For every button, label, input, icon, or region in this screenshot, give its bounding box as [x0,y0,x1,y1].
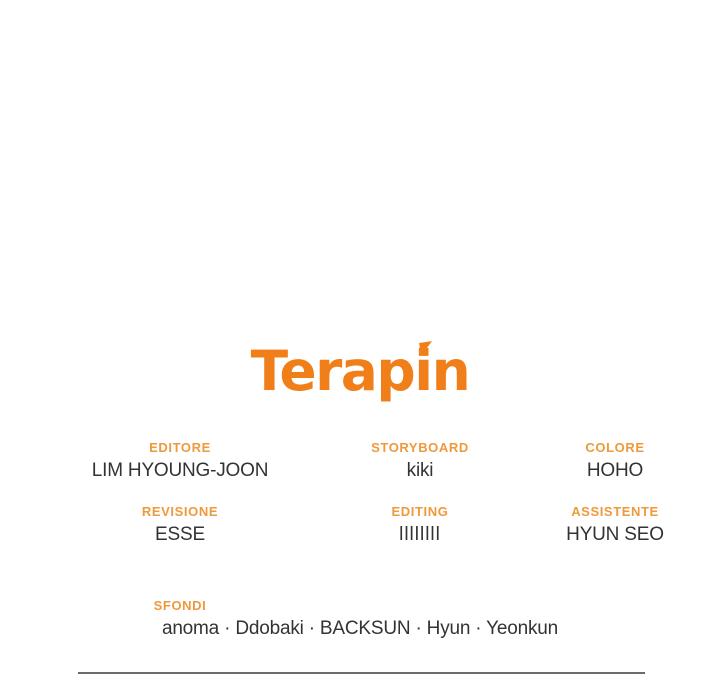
logo-text-after-accent: n [432,339,470,403]
credit-value: HOHO [525,460,705,482]
credit-column-assistente: ASSISTENTE HYUN SEO [525,504,705,546]
logo-text: Terapin [251,344,470,399]
credit-label: SFONDI [30,598,330,613]
credit-value: HYUN SEO [525,524,705,546]
credit-label: EDITING [345,504,495,519]
footer-divider [78,672,645,674]
credit-value: ESSE [30,524,330,546]
credits-page: Terapin EDITORE LIM HYOUNG-JOON STORYBOA… [0,0,720,700]
credits-block: EDITORE LIM HYOUNG-JOON STORYBOARD kiki … [0,440,720,568]
credit-value: LIM HYOUNG-JOON [30,460,330,482]
acute-accent-icon [419,341,434,356]
credit-label: STORYBOARD [345,440,495,455]
logo-text-before-accent: Terap [251,339,415,403]
credit-column-editing: EDITING llllllll [345,504,495,546]
credit-label: COLORE [525,440,705,455]
credit-label: EDITORE [30,440,330,455]
credit-value: llllllll [345,524,495,546]
credit-value: anoma · Ddobaki · BACKSUN · Hyun · Yeonk… [0,618,720,640]
credit-column-revisione: REVISIONE ESSE [30,504,330,546]
credit-label: ASSISTENTE [525,504,705,519]
credit-column-colore: COLORE HOHO [525,440,705,482]
credit-column-storyboard: STORYBOARD kiki [345,440,495,482]
terapin-logo: Terapin [0,336,720,406]
sfondi-block: SFONDI anoma · Ddobaki · BACKSUN · Hyun … [0,598,720,640]
credit-row: EDITORE LIM HYOUNG-JOON STORYBOARD kiki … [0,440,720,482]
credit-label: REVISIONE [30,504,330,519]
credit-row: REVISIONE ESSE EDITING llllllll ASSISTEN… [0,504,720,546]
blank-artwork-area [0,0,720,340]
logo-accented-letter-wrap: i [414,344,431,399]
credit-column-editore: EDITORE LIM HYOUNG-JOON [30,440,330,482]
credit-value: kiki [345,460,495,482]
